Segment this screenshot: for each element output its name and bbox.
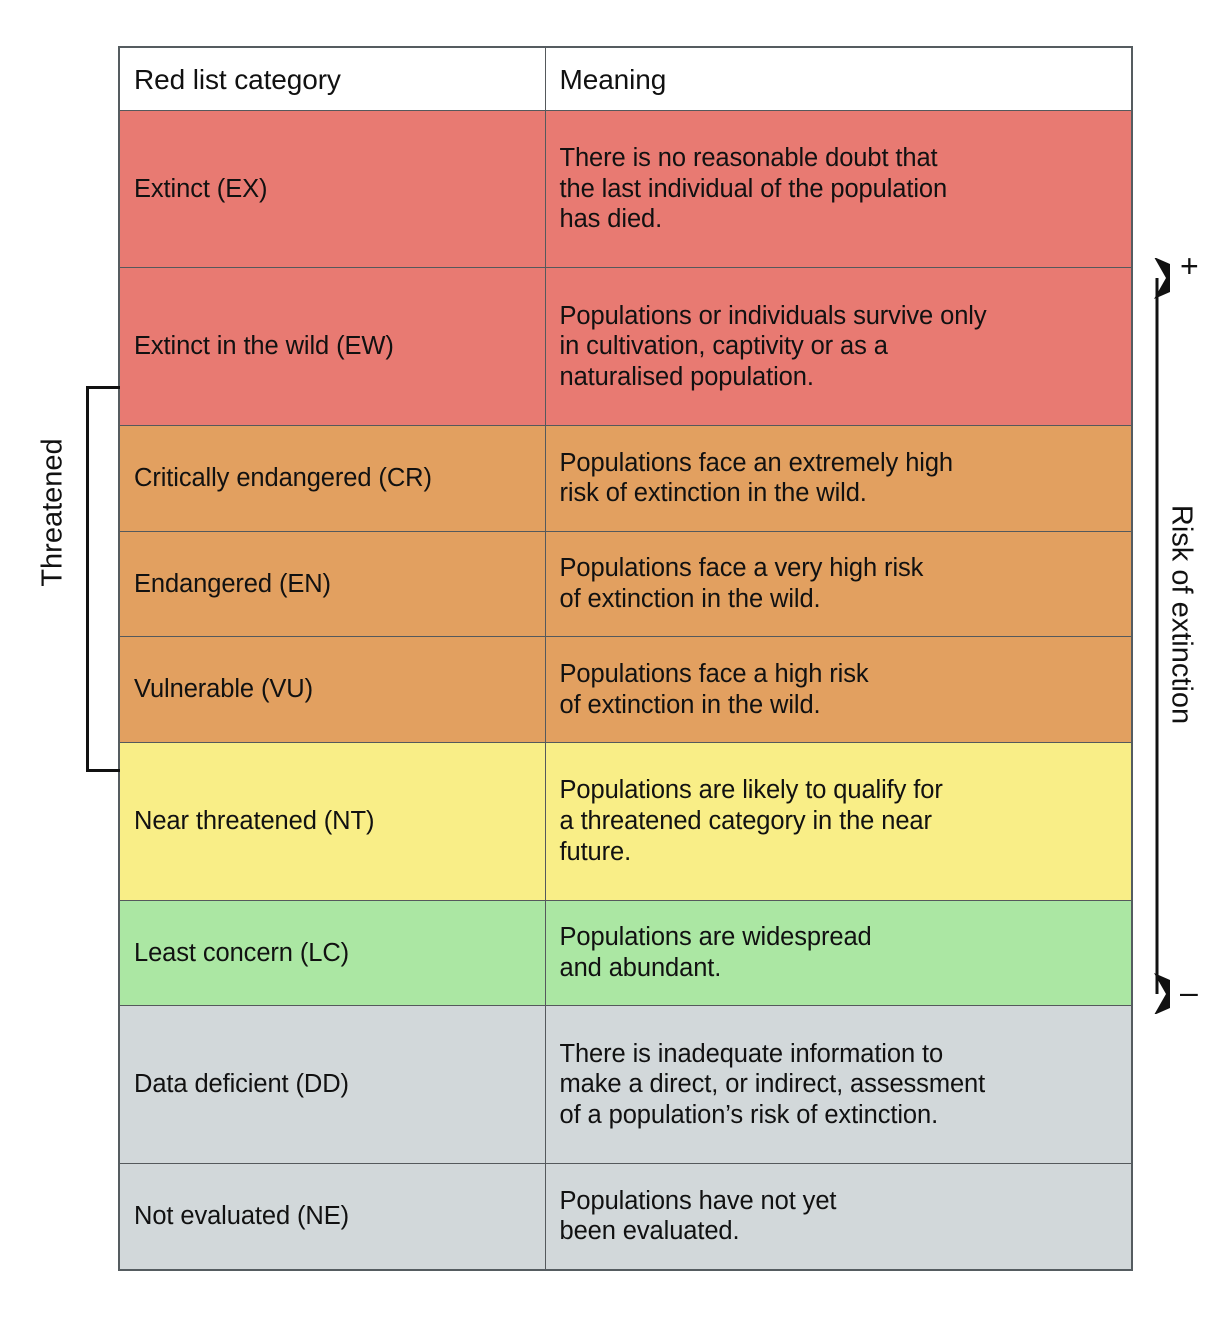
meaning-line: a threatened category in the near: [560, 806, 1118, 837]
table-row: Near threatened (NT) Populations are lik…: [119, 742, 1132, 900]
threatened-label: Threatened: [37, 418, 70, 608]
category-cell-ne: Not evaluated (NE): [119, 1163, 545, 1270]
meaning-line: has died.: [560, 204, 1118, 235]
meaning-cell-nt: Populations are likely to qualify for a …: [545, 742, 1132, 900]
table-header-row: Red list category Meaning: [119, 47, 1132, 110]
table-row: Vulnerable (VU) Populations face a high …: [119, 637, 1132, 743]
column-header-meaning: Meaning: [545, 47, 1132, 110]
category-cell-lc: Least concern (LC): [119, 900, 545, 1006]
meaning-line: been evaluated.: [560, 1216, 1118, 1247]
threatened-bracket-icon: [86, 386, 120, 772]
risk-of-extinction-label: Risk of extinction: [1165, 475, 1198, 755]
axis-high-symbol: +: [1180, 250, 1199, 282]
category-cell-ew: Extinct in the wild (EW): [119, 268, 545, 426]
meaning-cell-ne: Populations have not yet been evaluated.: [545, 1163, 1132, 1270]
meaning-line: and abundant.: [560, 953, 1118, 984]
risk-of-extinction-annotation: + – Risk of extinction: [1136, 258, 1216, 1018]
category-cell-vu: Vulnerable (VU): [119, 637, 545, 743]
table-row: Critically endangered (CR) Populations f…: [119, 425, 1132, 531]
meaning-line: Populations face a very high risk: [560, 553, 1118, 584]
category-cell-en: Endangered (EN): [119, 531, 545, 637]
table-row: Not evaluated (NE) Populations have not …: [119, 1163, 1132, 1270]
category-cell-nt: Near threatened (NT): [119, 742, 545, 900]
red-list-table-wrapper: Red list category Meaning Extinct (EX) T…: [118, 46, 1131, 1271]
meaning-line: make a direct, or indirect, assessment: [560, 1069, 1118, 1100]
meaning-line: risk of extinction in the wild.: [560, 478, 1118, 509]
meaning-cell-ew: Populations or individuals survive only …: [545, 268, 1132, 426]
meaning-line: Populations or individuals survive only: [560, 301, 1118, 332]
threatened-annotation: Threatened: [20, 386, 120, 772]
meaning-line: of extinction in the wild.: [560, 584, 1118, 615]
meaning-cell-en: Populations face a very high risk of ext…: [545, 531, 1132, 637]
meaning-line: the last individual of the population: [560, 174, 1118, 205]
axis-low-symbol: –: [1180, 976, 1198, 1008]
meaning-line: in cultivation, captivity or as a: [560, 331, 1118, 362]
meaning-cell-ex: There is no reasonable doubt that the la…: [545, 110, 1132, 268]
meaning-line: There is no reasonable doubt that: [560, 143, 1118, 174]
meaning-cell-lc: Populations are widespread and abundant.: [545, 900, 1132, 1006]
meaning-line: Populations face a high risk: [560, 659, 1118, 690]
red-list-table: Red list category Meaning Extinct (EX) T…: [118, 46, 1133, 1271]
table-row: Extinct (EX) There is no reasonable doub…: [119, 110, 1132, 268]
meaning-line: Populations are likely to qualify for: [560, 775, 1118, 806]
figure-root: Red list category Meaning Extinct (EX) T…: [0, 0, 1216, 1320]
category-cell-dd: Data deficient (DD): [119, 1006, 545, 1164]
meaning-cell-cr: Populations face an extremely high risk …: [545, 425, 1132, 531]
table-row: Data deficient (DD) There is inadequate …: [119, 1006, 1132, 1164]
category-cell-cr: Critically endangered (CR): [119, 425, 545, 531]
meaning-line: There is inadequate information to: [560, 1039, 1118, 1070]
meaning-line: Populations have not yet: [560, 1186, 1118, 1217]
column-header-category: Red list category: [119, 47, 545, 110]
table-row: Extinct in the wild (EW) Populations or …: [119, 268, 1132, 426]
meaning-line: Populations face an extremely high: [560, 448, 1118, 479]
meaning-cell-vu: Populations face a high risk of extincti…: [545, 637, 1132, 743]
category-cell-ex: Extinct (EX): [119, 110, 545, 268]
table-row: Least concern (LC) Populations are wides…: [119, 900, 1132, 1006]
meaning-cell-dd: There is inadequate information to make …: [545, 1006, 1132, 1164]
meaning-line: of extinction in the wild.: [560, 690, 1118, 721]
meaning-line: Populations are widespread: [560, 922, 1118, 953]
table-row: Endangered (EN) Populations face a very …: [119, 531, 1132, 637]
meaning-line: naturalised population.: [560, 362, 1118, 393]
meaning-line: of a population’s risk of extinction.: [560, 1100, 1118, 1131]
meaning-line: future.: [560, 837, 1118, 868]
